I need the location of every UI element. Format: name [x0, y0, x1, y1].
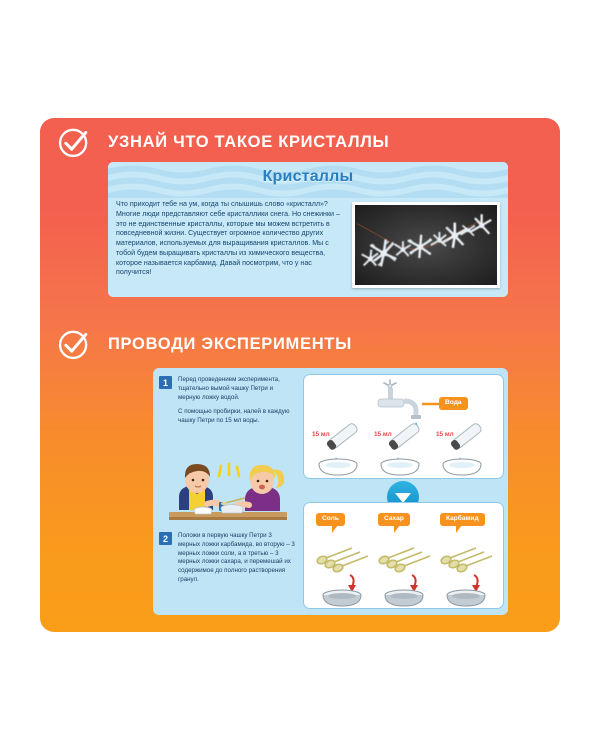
step-2: 2 Положи в первую чашку Петри 3 мерных л… [159, 532, 295, 585]
step-1-number: 1 [159, 376, 172, 389]
section-title-learn: УЗНАЙ ЧТО ТАКОЕ КРИСТАЛЛЫ [108, 133, 389, 152]
experiment-diagrams: Вода 15 мл 15 мл 15 мл [303, 374, 504, 609]
diagram-water-graphic [304, 375, 505, 480]
diagram-water: Вода 15 мл 15 мл 15 мл [303, 374, 504, 479]
section-title-experiments: ПРОВОДИ ЭКСПЕРИМЕНТЫ [108, 335, 352, 354]
crystal-photo-image [355, 205, 497, 285]
step-1-paragraph-1: Перед проведением эксперимента, тщательн… [178, 376, 295, 402]
experiment-steps: 1 Перед проведением эксперимента, тщател… [157, 372, 299, 611]
substance-group-3 [440, 548, 492, 606]
info-panel-crystals: Кристаллы Что приходит тебе на ум, когда… [108, 162, 508, 297]
tag-water: Вода [439, 397, 468, 410]
measuring-spoon-icon [378, 548, 430, 573]
step-1: 1 Перед проведением эксперимента, тщател… [159, 376, 295, 426]
crystal-photo [352, 202, 500, 288]
check-circle-icon [56, 124, 92, 160]
check-circle-icon [56, 326, 92, 362]
kids-illustration [159, 460, 297, 526]
volume-label-3: 15 мл [436, 431, 454, 438]
substance-group-1 [316, 548, 368, 606]
info-panel-body: Что приходит тебе на ум, когда ты слышиш… [116, 200, 344, 278]
step-2-text: Положи в первую чашку Петри 3 мерных лож… [178, 532, 295, 585]
info-panel-title: Кристаллы [108, 168, 508, 186]
tag-sugar: Сахар [378, 513, 410, 526]
experiment-panel: 1 Перед проведением эксперимента, тщател… [153, 368, 508, 615]
step-1-text: Перед проведением эксперимента, тщательн… [178, 376, 295, 426]
step-2-number: 2 [159, 532, 172, 545]
volume-label-2: 15 мл [374, 431, 392, 438]
section-header-experiments: ПРОВОДИ ЭКСПЕРИМЕНТЫ [56, 326, 352, 362]
measuring-spoon-icon [316, 548, 368, 573]
step-1-paragraph-2: С помощью пробирки, налей в каждую чашку… [178, 408, 295, 426]
measuring-spoon-icon [440, 548, 492, 573]
page-root: УЗНАЙ ЧТО ТАКОЕ КРИСТАЛЛЫ Кристаллы Что … [0, 0, 600, 750]
tag-carbamide: Карбамид [440, 513, 485, 526]
section-header-learn: УЗНАЙ ЧТО ТАКОЕ КРИСТАЛЛЫ [56, 124, 389, 160]
faucet-icon [378, 380, 421, 429]
diagram-substances: Соль Сахар Карбамид [303, 502, 504, 609]
substance-group-2 [378, 548, 430, 606]
step-2-paragraph-1: Положи в первую чашку Петри 3 мерных лож… [178, 532, 295, 585]
tag-salt: Соль [316, 513, 345, 526]
content-card: УЗНАЙ ЧТО ТАКОЕ КРИСТАЛЛЫ Кристаллы Что … [40, 118, 560, 632]
volume-label-1: 15 мл [312, 431, 330, 438]
